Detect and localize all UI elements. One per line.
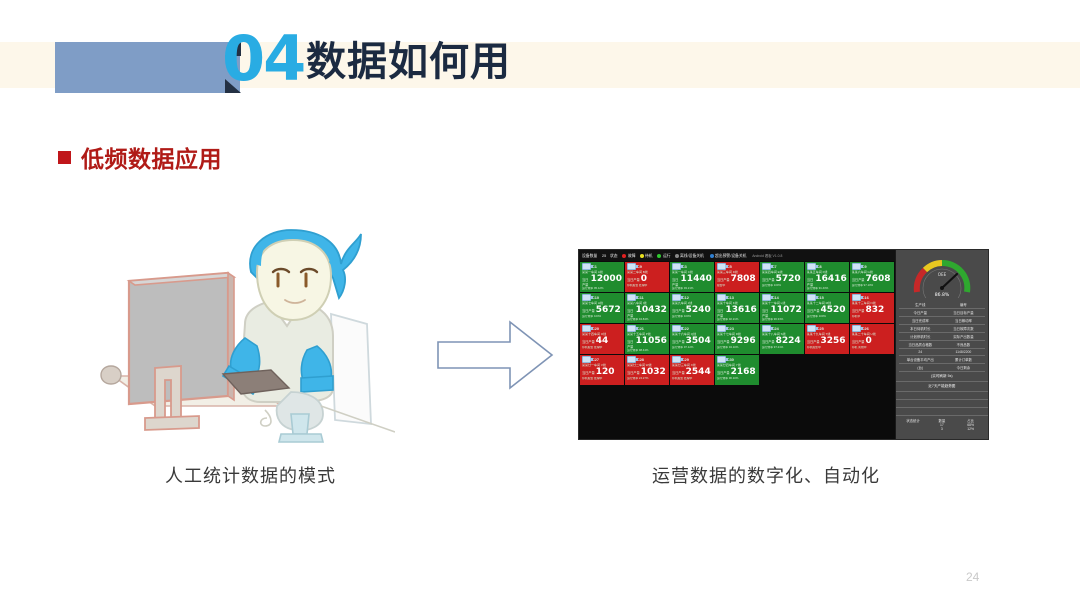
- device-value-label: 当日产量: [807, 277, 815, 287]
- section-number: 04: [222, 28, 304, 90]
- side-table-row: 今日产量当日目标产量: [899, 309, 985, 317]
- device-value: 7808: [731, 274, 756, 284]
- device-value-label: 当日产量: [582, 308, 595, 313]
- device-value: 11440: [681, 274, 712, 284]
- device-code: C16: [862, 296, 869, 300]
- device-tile[interactable]: C3某某一车间 C线当日产量11440运行效率 93.21%: [670, 262, 714, 292]
- device-value-label: 当日产量: [627, 308, 635, 318]
- flow-arrow-icon: [436, 318, 554, 392]
- device-code: C29: [682, 358, 689, 362]
- device-value: 832: [865, 305, 884, 315]
- device-icon: [672, 356, 681, 363]
- device-value: 16416: [815, 274, 846, 284]
- device-code: C21: [637, 327, 644, 331]
- device-value-label: 当日产量: [672, 339, 685, 344]
- device-value: 8224: [776, 336, 801, 346]
- device-status-text: 运行效率 92.21%: [717, 318, 757, 321]
- side-table-cell: 当日完成率: [899, 317, 942, 324]
- device-value-label: 当日产量: [762, 308, 770, 318]
- device-value: 0: [641, 274, 647, 284]
- device-status-text: 运行效率 100%: [762, 284, 802, 287]
- device-value: 5240: [686, 305, 711, 315]
- device-code: C22: [682, 327, 689, 331]
- device-tile[interactable]: C24某某十八车间 S线当日产量8224运行效率 97.21%: [760, 324, 804, 354]
- device-icon: [717, 294, 726, 301]
- oee-gauge: OEE 86.8%: [896, 250, 988, 298]
- device-tile[interactable]: C25某某十九车间 T线当日产量3256停机报警中: [805, 324, 849, 354]
- side-chart-area-row-2: [896, 400, 988, 408]
- device-value-label: 当日产量: [852, 277, 865, 282]
- device-tile[interactable]: C5某某三车间 D线当日产量7808报警中: [715, 262, 759, 292]
- device-value: 11072: [770, 305, 801, 315]
- device-tile[interactable]: C10某某七车间 H线当日产量5672运行效率 100%: [580, 293, 624, 323]
- device-status-text: 停机报警 处理中: [582, 377, 622, 380]
- device-tile[interactable]: C21某某十五车间 P线当日产量11056运行效率 98.44%: [625, 324, 669, 354]
- side-table-note: (实时刷新 5s): [896, 372, 988, 382]
- device-value: 2168: [731, 367, 756, 377]
- device-status-text: 运行效率 97.10%: [852, 284, 892, 287]
- device-code: C10: [592, 296, 599, 300]
- device-value: 3504: [686, 336, 711, 346]
- legend-label-running: 运行: [663, 253, 671, 259]
- device-code: C11: [637, 296, 644, 300]
- device-status-text: 运行效率 98.44%: [627, 349, 667, 352]
- side-table-cell: 今日剩余: [942, 364, 985, 371]
- device-code: C24: [772, 327, 779, 331]
- status-summary-row: 312%: [899, 427, 985, 431]
- device-value-label: 当日产量: [672, 308, 685, 313]
- device-code: C13: [727, 296, 734, 300]
- svg-text:OEE: OEE: [938, 272, 947, 277]
- device-icon: [717, 356, 726, 363]
- device-status-text: 停机 离线中: [852, 346, 892, 349]
- device-icon: [807, 263, 816, 270]
- person-at-computer-illustration: [95, 228, 395, 450]
- device-code: C14: [772, 296, 779, 300]
- device-icon: [852, 325, 861, 332]
- operations-dashboard: 设备数量 25 状态 故障 待机 运行 离线/设备关机: [578, 249, 989, 440]
- status-dot-warning-icon: [710, 254, 714, 258]
- status-summary-header-cell: 状态统计: [899, 418, 928, 423]
- device-icon: [672, 325, 681, 332]
- device-status-text: 停机报警 处理中: [672, 377, 712, 380]
- device-status-text: 运行效率 97.12%: [672, 346, 712, 349]
- side-table-cell: 本日待机时长: [899, 325, 942, 332]
- device-tile[interactable]: C28某某廿二车间 W线当日产量1032运行效率 24.27%: [625, 355, 669, 385]
- device-value-label: 当日产量: [762, 339, 775, 344]
- device-icon: [582, 325, 591, 332]
- device-value: 10432: [636, 305, 667, 315]
- device-icon: [717, 263, 726, 270]
- status-summary-cell: 12%: [956, 427, 985, 431]
- device-tile[interactable]: C15某某十二车间 M线当日产量4520运行效率 100%: [805, 293, 849, 323]
- device-status-text: 运行效率 100%: [672, 315, 712, 318]
- device-value: 11056: [636, 336, 667, 346]
- side-table-cell: 当日故障次数: [942, 325, 985, 332]
- device-value-label: 当日产量: [717, 339, 730, 344]
- side-chart-title: 近7天产能趋势图: [896, 382, 988, 392]
- svg-text:86.8%: 86.8%: [935, 292, 950, 298]
- device-value-label: 当日产量: [717, 277, 730, 282]
- device-icon: [627, 325, 636, 332]
- dashboard-main-panel: 设备数量 25 状态 故障 待机 运行 离线/设备关机: [579, 250, 895, 439]
- device-icon: [672, 294, 681, 301]
- device-value-label: 当日产量: [627, 370, 640, 375]
- legend-label-fault: 故障: [628, 253, 636, 259]
- side-table-cell: 单台设备平均产出: [899, 356, 942, 363]
- side-table-cell: 生产线: [899, 301, 942, 308]
- device-tile[interactable]: C20某某十四车间 O线当日产量44停机报警 处理中: [580, 324, 624, 354]
- device-tile[interactable]: C16某某十三车间 N线当日产量832停机中: [850, 293, 894, 323]
- page-number: 24: [966, 570, 979, 584]
- legend-item-standby: 待机: [640, 253, 654, 259]
- device-value-label: 当日产量: [582, 339, 595, 344]
- legend-item-running: 运行: [657, 253, 671, 259]
- device-value: 1032: [641, 367, 666, 377]
- dashboard-side-panel: OEE 86.8% 生产线编号今日产量当日目标产量当日完成率当日稼动率本日待机时…: [895, 250, 988, 439]
- device-status-text: 运行效率 24.27%: [627, 377, 667, 380]
- device-status-text: 运行效率 91.43%: [807, 287, 847, 290]
- side-table-row: 241148/2200: [899, 349, 985, 356]
- device-tile[interactable]: C12某某九车间 J线当日产量5240运行效率 100%: [670, 293, 714, 323]
- device-value: 4520: [821, 305, 846, 315]
- device-value: 120: [596, 367, 615, 377]
- legend-status-label: 状态: [610, 253, 618, 259]
- device-status-text: 停机报警 处理中: [627, 284, 667, 287]
- legend-label-warning: 超出预警/设备关机: [715, 253, 746, 259]
- device-value: 2544: [686, 367, 711, 377]
- side-table-row: 当日完成率当日稼动率: [899, 317, 985, 325]
- device-value: 44: [596, 336, 609, 346]
- section-banner-box: [55, 42, 240, 93]
- device-tile[interactable]: C29某某廿三车间 X线当日产量2544停机报警 处理中: [670, 355, 714, 385]
- device-value: 12000: [591, 274, 622, 284]
- side-table-cell: 实际产出数量: [942, 333, 985, 340]
- side-table-cell: (台): [899, 364, 942, 371]
- page-title: 数据如何用: [306, 40, 511, 84]
- side-data-table: 生产线编号今日产量当日目标产量当日完成率当日稼动率本日待机时长当日故障次数计划停…: [899, 301, 985, 372]
- device-status-text: 运行效率 100%: [582, 315, 622, 318]
- device-status-text: 停机报警 处理中: [582, 346, 622, 349]
- side-table-cell: 计划停机时长: [899, 333, 942, 340]
- device-value-label: 当日产量: [852, 308, 865, 313]
- side-table-cell: 当日目标产量: [942, 309, 985, 316]
- device-tile[interactable]: C1某某一车间 A线当日产量12000运行效率 95.12%: [580, 262, 624, 292]
- device-tile[interactable]: C14某某十一车间 L线当日产量11072运行效率 96.33%: [760, 293, 804, 323]
- device-icon: [807, 325, 816, 332]
- side-table-row: 本日待机时长当日故障次数: [899, 325, 985, 333]
- device-value: 7608: [865, 274, 890, 284]
- status-dot-fault-icon: [622, 254, 626, 258]
- side-table-cell: 1148/2200: [942, 349, 985, 355]
- dashboard-legend: 设备数量 25 状态 故障 待机 运行 离线/设备关机: [579, 250, 895, 261]
- device-value: 13616: [726, 305, 757, 315]
- device-tile[interactable]: C23某某十七车间 R线当日产量9296运行效率 94.10%: [715, 324, 759, 354]
- device-status-text: 运行效率 94.84%: [627, 318, 667, 321]
- device-status-text: 停机中: [852, 315, 892, 318]
- device-icon: [762, 263, 771, 270]
- bullet-square-icon: [58, 151, 71, 164]
- status-summary-cell: 3: [927, 427, 956, 431]
- device-status-text: 运行效率 100%: [807, 315, 847, 318]
- device-icon: [762, 294, 771, 301]
- device-tile[interactable]: C9某某六车间 G线当日产量7608运行效率 97.10%: [850, 262, 894, 292]
- device-value-label: 当日产量: [852, 339, 865, 344]
- status-dot-offline-icon: [675, 254, 679, 258]
- device-value-label: 当日产量: [717, 370, 730, 375]
- device-tile[interactable]: C11某某八车间 I线当日产量10432运行效率 94.84%: [625, 293, 669, 323]
- device-icon: [582, 263, 591, 270]
- device-tile[interactable]: C22某某十六车间 Q线当日产量3504运行效率 97.12%: [670, 324, 714, 354]
- device-status-text: 运行效率 94.10%: [717, 346, 757, 349]
- device-status-text: 报警中: [717, 284, 757, 287]
- device-status-text: 运行效率 93.21%: [672, 287, 712, 290]
- device-value: 5672: [596, 305, 621, 315]
- device-icon: [852, 263, 861, 270]
- side-table-cell: 当日稼动率: [942, 317, 985, 324]
- device-value: 5720: [776, 274, 801, 284]
- legend-item-warning: 超出预警/设备关机: [710, 253, 749, 259]
- side-table-cell: 24: [899, 349, 942, 355]
- device-status-text: 运行效率 95.12%: [582, 287, 622, 290]
- status-dot-standby-icon: [640, 254, 644, 258]
- right-caption: 运营数据的数字化、自动化: [652, 462, 880, 488]
- legend-note: Android 看板 V1.0.8: [752, 253, 782, 258]
- device-value-label: 当日产量: [672, 370, 685, 375]
- device-tile[interactable]: C30某某廿四车间 Y线当日产量2168运行效率 96.10%: [715, 355, 759, 385]
- device-value: 3256: [821, 336, 846, 346]
- legend-title: 设备数量: [582, 253, 597, 259]
- slide-canvas: 04 数据如何用 低频数据应用: [0, 0, 1080, 607]
- device-status-text: 运行效率 96.10%: [717, 377, 757, 380]
- device-value-label: 当日产量: [762, 277, 775, 282]
- device-value-label: 当日产量: [627, 277, 640, 282]
- device-code: C30: [727, 358, 734, 362]
- device-code: C20: [592, 327, 599, 331]
- device-tile[interactable]: C13某某十车间 K线当日产量13616运行效率 92.21%: [715, 293, 759, 323]
- legend-label-standby: 待机: [645, 253, 653, 259]
- device-value-label: 当日产量: [807, 339, 820, 344]
- device-status-text: 运行效率 96.33%: [762, 318, 802, 321]
- side-table-row: (台)今日剩余: [899, 364, 985, 372]
- legend-label-offline: 离线/设备关机: [680, 253, 704, 259]
- device-value-label: 当日产量: [582, 277, 590, 287]
- device-value-label: 当日产量: [582, 370, 595, 375]
- device-code: C27: [592, 358, 599, 362]
- device-icon: [717, 325, 726, 332]
- device-value: 9296: [731, 336, 756, 346]
- status-dot-running-icon: [657, 254, 661, 258]
- side-chart-area-row-3: [896, 408, 988, 416]
- device-tile[interactable]: C7某某四车间 E线当日产量5720运行效率 100%: [760, 262, 804, 292]
- device-icon: [627, 356, 636, 363]
- device-value-label: 当日产量: [672, 277, 680, 287]
- device-icon: [852, 294, 861, 301]
- device-code: C23: [727, 327, 734, 331]
- legend-item-fault: 故障: [622, 253, 636, 259]
- device-icon: [582, 294, 591, 301]
- device-icon: [627, 294, 636, 301]
- device-code: C12: [682, 296, 689, 300]
- device-value-label: 当日产量: [627, 339, 635, 349]
- side-table-row: 计划停机时长实际产出数量: [899, 333, 985, 341]
- status-summary-table: 状态统计数量占比1768%312%: [899, 418, 985, 431]
- device-tile[interactable]: C27某某廿一车间 V线当日产量120停机报警 处理中: [580, 355, 624, 385]
- device-status-text: 停机报警中: [807, 346, 847, 349]
- legend-count: 25: [602, 253, 606, 258]
- device-icon: [582, 356, 591, 363]
- side-table-cell: 今日产量: [899, 309, 942, 316]
- bullet-heading: 低频数据应用: [58, 140, 222, 174]
- device-icon: [762, 325, 771, 332]
- left-caption: 人工统计数据的模式: [165, 462, 336, 488]
- bullet-label: 低频数据应用: [81, 140, 222, 174]
- side-table-row: 生产线编号: [899, 301, 985, 309]
- side-table-cell: 编号: [942, 301, 985, 308]
- device-tile-grid: C1某某一车间 A线当日产量12000运行效率 95.12%C9某某二车间 B线…: [579, 261, 895, 386]
- legend-item-offline: 离线/设备关机: [675, 253, 706, 259]
- side-table-cell: 不良品数: [942, 341, 985, 348]
- device-tile[interactable]: C8某某五车间 F线当日产量16416运行效率 91.43%: [805, 262, 849, 292]
- device-tile[interactable]: C9某某二车间 B线当日产量0停机报警 处理中: [625, 262, 669, 292]
- side-table-cell: 累计订单数: [942, 356, 985, 363]
- device-value-label: 当日产量: [807, 308, 820, 313]
- side-table-row: 单台设备平均产出累计订单数: [899, 356, 985, 364]
- side-table-row: 当日品质合格数不良品数: [899, 341, 985, 349]
- device-icon: [627, 263, 636, 270]
- device-tile[interactable]: C26某某二十车间 U线当日产量0停机 离线中: [850, 324, 894, 354]
- device-code: C25: [817, 327, 824, 331]
- device-value-label: 当日产量: [717, 308, 725, 318]
- device-icon: [672, 263, 681, 270]
- device-code: C28: [637, 358, 644, 362]
- device-icon: [807, 294, 816, 301]
- side-table-cell: 当日品质合格数: [899, 341, 942, 348]
- device-status-text: 运行效率 97.21%: [762, 346, 802, 349]
- device-value: 0: [865, 336, 871, 346]
- device-code: C15: [817, 296, 824, 300]
- device-code: C26: [862, 327, 869, 331]
- side-chart-area-row-1: [896, 392, 988, 400]
